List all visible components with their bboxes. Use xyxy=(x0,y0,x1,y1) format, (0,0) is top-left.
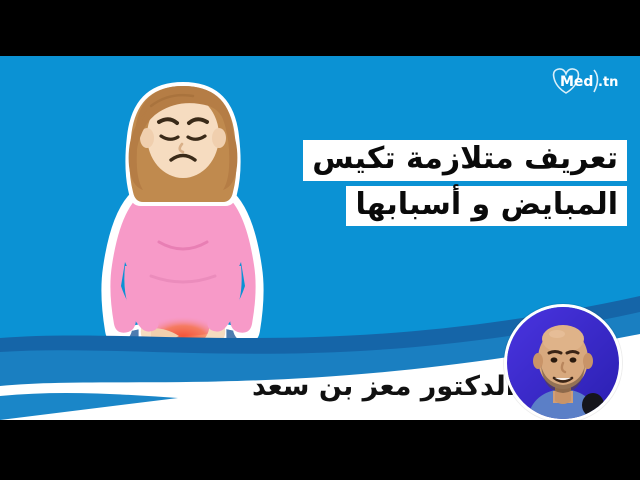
speaker-name: الدكتور معز بن سعد xyxy=(252,371,515,402)
doctor-portrait xyxy=(504,304,622,420)
title-line-2: المبايض و أسبابها xyxy=(346,186,627,227)
med-tn-logo[interactable]: Med .tn xyxy=(546,64,630,98)
title-line-1: تعريف متلازمة تكيس xyxy=(303,140,627,181)
letterbox-bar-bottom xyxy=(0,420,640,480)
logo-text-suffix: .tn xyxy=(598,75,618,90)
video-canvas: تعريف متلازمة تكيس المبايض و أسبابها الد… xyxy=(0,56,640,420)
video-title: تعريف متلازمة تكيس المبايض و أسبابها xyxy=(267,140,627,231)
logo-text-main: Med xyxy=(560,74,593,90)
letterbox-bar-top xyxy=(0,0,640,56)
video-frame: تعريف متلازمة تكيس المبايض و أسبابها الد… xyxy=(0,0,640,480)
